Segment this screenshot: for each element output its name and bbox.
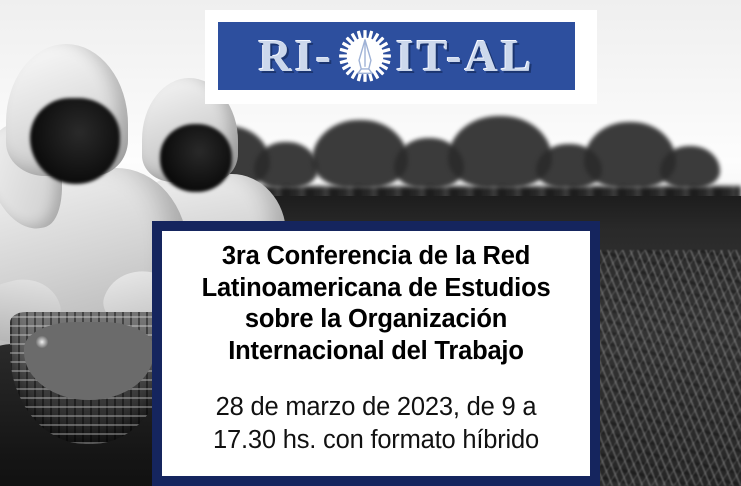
ilo-gear-monument-emblem-icon [335, 26, 395, 86]
conference-title: 3ra Conferencia de la Red Latinoamerican… [170, 241, 582, 367]
logo-text-before: RI- [258, 33, 333, 79]
conference-poster: RI- [0, 0, 741, 486]
title-line: 3ra Conferencia de la Red [170, 241, 582, 273]
conference-info-box: 3ra Conferencia de la Red Latinoamerican… [152, 221, 600, 486]
tree-silhouette [312, 120, 408, 188]
worker-face [30, 98, 120, 184]
logo-banner: RI- [218, 22, 575, 90]
harvest-basket [10, 312, 168, 444]
date-line: 17.30 hs. con formato híbrido [170, 424, 582, 456]
tree-silhouette [448, 116, 552, 188]
conference-date-time: 28 de marzo de 2023, de 9 a 17.30 hs. co… [170, 391, 582, 455]
title-line: sobre la Organización [170, 304, 582, 336]
title-line: Internacional del Trabajo [170, 336, 582, 368]
logo-panel: RI- [205, 10, 597, 104]
title-line: Latinoamericana de Estudios [170, 273, 582, 305]
logo-wordmark: RI- [258, 26, 534, 86]
logo-text-after: IT-AL [396, 33, 535, 79]
date-line: 28 de marzo de 2023, de 9 a [170, 391, 582, 423]
conference-info-inner: 3ra Conferencia de la Red Latinoamerican… [162, 231, 590, 476]
tree-silhouette [660, 146, 720, 188]
